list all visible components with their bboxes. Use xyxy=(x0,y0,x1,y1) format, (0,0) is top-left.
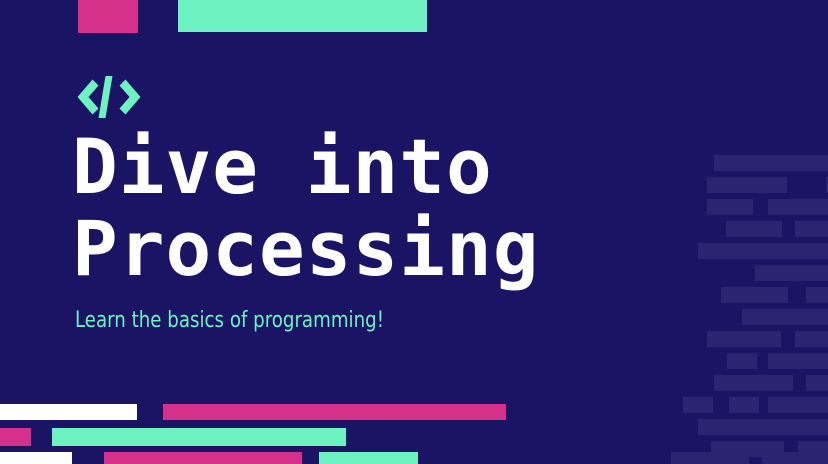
code-line-segment xyxy=(795,221,828,237)
code-line-segment xyxy=(729,397,759,413)
slide-subtitle: Learn the basics of programming! xyxy=(75,306,384,336)
code-line-segment xyxy=(714,155,828,171)
bottom-bar-white-1 xyxy=(0,404,137,420)
code-line-row xyxy=(628,331,828,347)
code-line-segment xyxy=(768,353,828,369)
code-line-row xyxy=(628,375,828,391)
code-line-segment xyxy=(698,419,828,435)
code-line-row xyxy=(628,441,828,457)
code-line-row xyxy=(628,452,828,464)
code-line-segment xyxy=(795,331,828,347)
code-line-segment xyxy=(707,331,781,347)
bottom-bar-white-2 xyxy=(0,452,72,464)
code-line-segment xyxy=(742,309,828,325)
bottom-bar-pink-3 xyxy=(104,452,302,464)
code-line-row xyxy=(628,419,828,435)
code-line-segment xyxy=(683,397,713,413)
code-line-segment xyxy=(806,375,828,391)
code-line-row xyxy=(628,353,828,369)
bottom-bar-teal-1 xyxy=(52,428,346,446)
code-line-segment xyxy=(698,243,828,259)
code-line-segment xyxy=(798,441,828,457)
code-line-segment xyxy=(707,177,787,193)
bottom-bar-pink-2 xyxy=(0,428,31,446)
code-line-segment xyxy=(768,397,828,413)
code-line-segment xyxy=(762,452,828,464)
code-line-segment xyxy=(727,353,757,369)
code-line-segment xyxy=(711,441,784,457)
page-title: Dive into Processing xyxy=(72,126,672,290)
bottom-bar-pink-1 xyxy=(163,404,506,420)
code-line-segment xyxy=(671,452,749,464)
code-line-segment xyxy=(714,375,793,391)
code-line-segment xyxy=(721,287,788,303)
title-line-1: Dive into xyxy=(72,126,672,208)
code-line-segment xyxy=(726,221,782,237)
bottom-bar-teal-2 xyxy=(319,452,418,464)
title-line-2: Processing xyxy=(72,208,672,290)
top-bar-pink xyxy=(78,0,138,33)
code-line-row xyxy=(628,309,828,325)
code-line-row xyxy=(628,397,828,413)
presentation-slide: Dive into Processing Learn the basics of… xyxy=(0,0,828,464)
top-bar-teal xyxy=(178,0,427,32)
code-line-segment xyxy=(806,287,828,303)
code-line-segment xyxy=(755,265,828,281)
code-line-segment xyxy=(707,199,753,215)
code-line-segment xyxy=(768,199,828,215)
code-brackets-icon xyxy=(74,74,144,120)
